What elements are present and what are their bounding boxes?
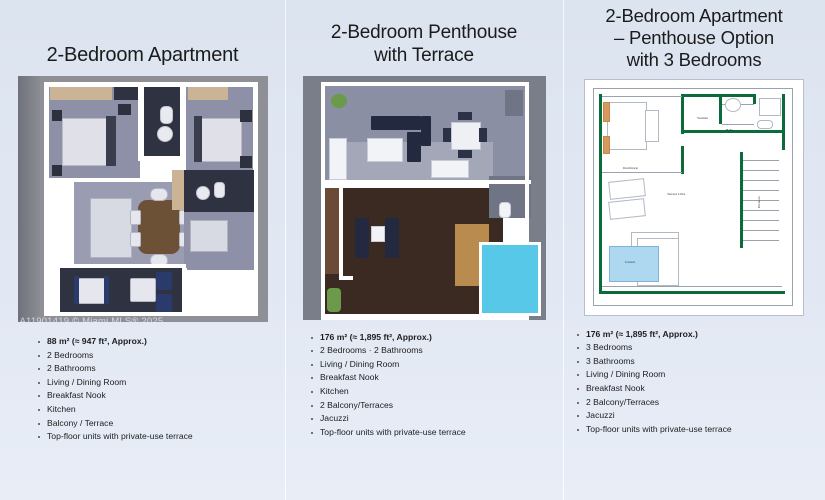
spec-list-penthouse: 176 m² (≈ 1,895 ft², Approx.) 2 Bedrooms… (285, 331, 563, 440)
jacuzzi-pool (479, 242, 541, 316)
stair-tread-4 (743, 190, 779, 191)
deck-wall-left (339, 184, 343, 280)
spec-item: Top-floor units with private-use terrace (307, 426, 563, 440)
spec-item: 2 Bedrooms · 2 Bathrooms (307, 344, 563, 358)
wall-right-upper (782, 94, 785, 150)
terrace-edge-line (602, 286, 782, 287)
kitchen-counter-wood (172, 170, 184, 210)
nightstand-left-b (52, 165, 62, 176)
unit-wall-right (525, 82, 529, 218)
bano-line-b (722, 124, 754, 125)
spec-item: 3 Bathrooms (573, 355, 825, 369)
label-bano: Baño (726, 128, 733, 132)
wall-center-b (180, 86, 185, 158)
guide-line-left (593, 88, 594, 306)
spec-item: Living / Dining Room (573, 368, 825, 382)
terrace-chair-1 (443, 128, 451, 142)
spec-item: 2 Bathrooms (34, 362, 285, 376)
spec-item: 3 Bedrooms (573, 341, 825, 355)
wall-top (44, 82, 258, 87)
wall-bottom (599, 291, 785, 294)
wall-left-upper (44, 82, 49, 192)
spec-item: 88 m² (≈ 947 ft², Approx.) (34, 335, 285, 349)
terrace-sofa (371, 116, 421, 130)
sink-center (157, 126, 173, 142)
bedroom-left-dark-panel (114, 87, 140, 100)
bath-sink-drawing (725, 98, 741, 112)
toilet-drawing (757, 120, 773, 129)
floor-plan-image-penthouse (303, 76, 546, 320)
title-line: with 3 Bedrooms (605, 49, 782, 71)
balcony-lounger (130, 278, 156, 302)
balcony-planter-2 (156, 294, 172, 312)
wall-vestidor-divider (719, 94, 722, 124)
wardrobe-drawing-a (603, 102, 610, 122)
secondary-sofa (190, 220, 228, 252)
stair-tread-8 (743, 230, 779, 231)
spec-item: 176 m² (≈ 1,895 ft², Approx.) (307, 331, 563, 345)
stair-tread-7 (743, 220, 779, 221)
wall-bottom (56, 312, 254, 316)
title-line: with Terrace (331, 45, 517, 68)
deck-wall-top (321, 180, 531, 184)
panel-penthouse-option-three-bedrooms: 2-Bedroom Apartment – Penthouse Option w… (563, 0, 825, 500)
jacuzzi-basin (609, 246, 659, 282)
dining-chair-2 (130, 232, 141, 247)
guide-line-top (593, 88, 793, 89)
terrace-chair-2 (479, 128, 487, 142)
title-line: 2-Bedroom Penthouse (331, 22, 517, 45)
label-vestidor: Vestidor (697, 116, 708, 120)
potted-plant-top (331, 94, 347, 108)
title-line: – Penthouse Option (605, 27, 782, 49)
terrace-dining-table (451, 122, 481, 150)
label-terraza-libre: Terraza Libre (667, 192, 685, 196)
wall-balcony-right (182, 268, 187, 316)
spec-item: 2 Balcony/Terraces (307, 399, 563, 413)
spec-item: Breakfast Nook (307, 371, 563, 385)
unit-wall-top (321, 82, 529, 86)
balcony-chair-2 (104, 276, 109, 304)
dormitorio-top-line (602, 96, 682, 97)
wall-left (599, 94, 602, 294)
guide-line-right (792, 88, 793, 306)
terrace-armchair (407, 132, 421, 162)
unit-wall-left (321, 82, 325, 182)
title-line: 2-Bedroom Apartment (605, 5, 782, 27)
bedroom-right-window-ledge (188, 87, 228, 100)
bed-left (62, 118, 108, 166)
spec-item: Breakfast Nook (573, 382, 825, 396)
nightstand-right-a (240, 110, 252, 122)
terrace-storage (505, 90, 523, 116)
deck-side-table (371, 226, 385, 242)
panel-title-penthouse: 2-Bedroom Penthouse with Terrace (331, 22, 517, 68)
balcony-rail-top (56, 264, 186, 268)
kitchen-sink (196, 186, 210, 200)
dormitorio-bottom-line (602, 172, 682, 173)
spec-item: Top-floor units with private-use terrace (573, 423, 825, 437)
panel-two-bedroom-apartment: 2-Bedroom Apartment (0, 0, 285, 500)
stair-tread-2 (743, 170, 779, 171)
deck-toilet (499, 202, 511, 218)
sofa (90, 198, 132, 258)
bed-left-headboard (106, 116, 116, 166)
balcony-planter-1 (156, 272, 172, 290)
dining-chair-1 (130, 210, 141, 225)
panel-title-apartment: 2-Bedroom Apartment (47, 43, 239, 67)
wall-right-stub (753, 94, 756, 104)
terrace-lounger-1 (367, 138, 403, 162)
spec-item: Top-floor units with private-use terrace (34, 430, 285, 444)
floor-plan-image-apartment: A11901419 © Miami MLS® 2025 (18, 76, 268, 322)
plan-unit-outline (44, 82, 258, 316)
spec-item: Jacuzzi (573, 409, 825, 423)
spec-item: Balcony / Terrace (34, 417, 285, 431)
terrace-sofa-arm (421, 116, 431, 146)
panel-two-bedroom-penthouse: 2-Bedroom Penthouse with Terrace (285, 0, 563, 500)
spec-item: Kitchen (307, 385, 563, 399)
spec-item: 2 Bedrooms (34, 349, 285, 363)
stair-tread-1 (743, 160, 779, 161)
wall-center-h (138, 156, 185, 161)
terrace-lounger-2 (329, 138, 347, 180)
label-escalera: Escalera (757, 196, 761, 207)
bed-drawing (607, 102, 647, 150)
bed-right-headboard (194, 116, 202, 162)
deck-wall-bottom-left (339, 276, 353, 280)
wall-center-a (138, 86, 143, 158)
label-dormitorio: Dormitorio (623, 166, 638, 170)
balcony-rail-left (56, 264, 60, 316)
wall-vestidor-top (681, 94, 753, 97)
wall-dormitorio-right (681, 146, 684, 174)
terrace-lounger-3 (431, 160, 469, 178)
spec-item: Living / Dining Room (307, 358, 563, 372)
floor-plan-drawing-penthouse-option: Vestidor Baño Dormitorio Terraza Libre E… (584, 79, 804, 316)
spec-item: 2 Balcony/Terraces (573, 396, 825, 410)
toilet-center (160, 106, 173, 124)
stair-tread-9 (743, 240, 779, 241)
balcony-chair-1 (74, 276, 79, 304)
potted-plant-bottom (327, 288, 341, 312)
terrace-lounger-drawing-1 (608, 178, 646, 200)
bed-side-drawing (645, 110, 659, 142)
wall-vestidor-left (681, 94, 684, 134)
bed-right (200, 118, 242, 162)
dining-chair-5 (150, 188, 168, 201)
spec-item: Breakfast Nook (34, 389, 285, 403)
shower-drawing (759, 98, 781, 116)
title-line: 2-Bedroom Apartment (47, 43, 239, 67)
terrace-lounger-drawing-2 (608, 198, 646, 220)
stair-tread-6 (743, 210, 779, 211)
stair-tread-5 (743, 200, 779, 201)
kitchen-appliance (214, 182, 225, 198)
spec-list-penthouse-option: 176 m² (≈ 1,895 ft², Approx.) 3 Bedrooms… (563, 328, 825, 437)
deck-lounger-1 (355, 218, 369, 258)
stair-tread-3 (743, 180, 779, 181)
terrace-chair-4 (458, 150, 472, 158)
wardrobe-drawing-b (603, 136, 610, 154)
spec-item: Jacuzzi (307, 412, 563, 426)
label-jacuzzi: Jacuzzi (625, 260, 635, 264)
spec-item: Living / Dining Room (34, 376, 285, 390)
nightstand-left-a (52, 110, 62, 121)
floor-plan-comparison-board: 2-Bedroom Apartment (0, 0, 825, 500)
bedroom-left-window-ledge (50, 87, 112, 100)
spec-list-apartment: 88 m² (≈ 947 ft², Approx.) 2 Bedrooms 2 … (0, 335, 285, 444)
nightstand-right-b (240, 156, 252, 168)
deck-lounger-2 (385, 218, 399, 258)
spec-item: 176 m² (≈ 1,895 ft², Approx.) (573, 328, 825, 342)
panel-title-penthouse-option: 2-Bedroom Apartment – Penthouse Option w… (605, 5, 782, 72)
spec-item: Kitchen (34, 403, 285, 417)
guide-line-bottom (593, 305, 793, 306)
dresser-left (118, 104, 131, 115)
terrace-chair-3 (458, 112, 472, 120)
